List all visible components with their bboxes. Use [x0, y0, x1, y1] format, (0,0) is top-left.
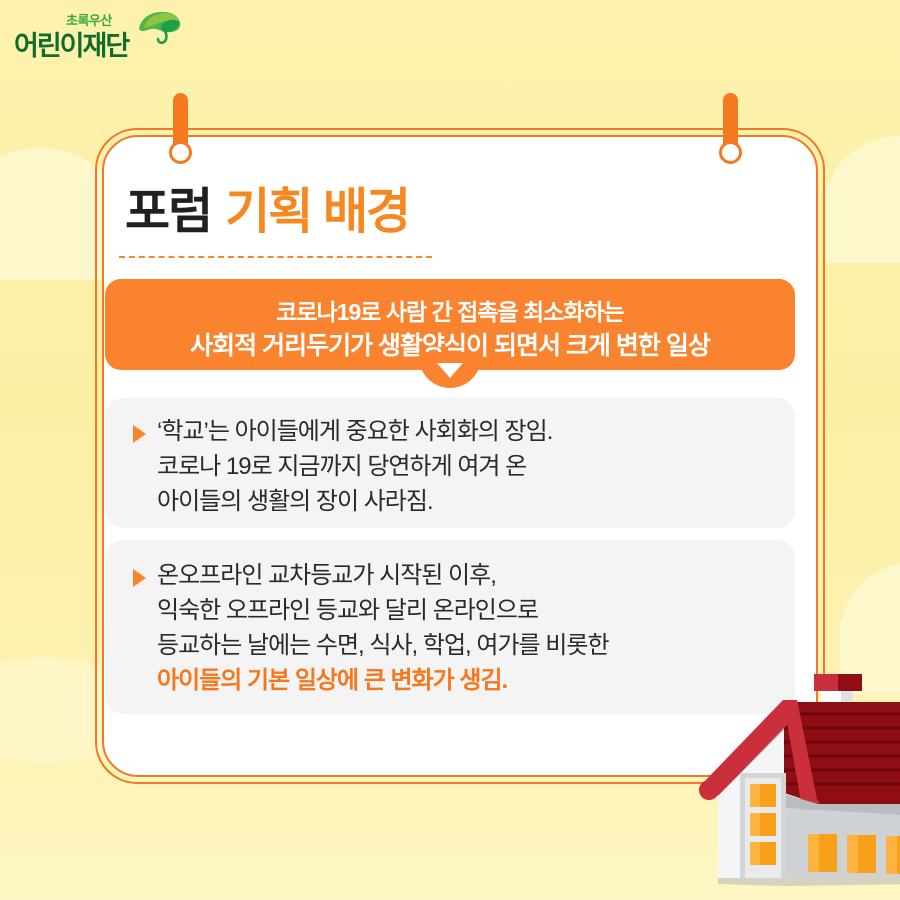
house-side-wall: [784, 808, 900, 878]
title-part-dark: 포럼: [125, 185, 211, 239]
house-side-window-1-hl: [808, 834, 819, 872]
hook-ring: [169, 141, 192, 164]
house-side-window-2-hl: [847, 835, 858, 873]
house-chimney-cap-shadow: [838, 674, 862, 691]
house-door-window-3-hl: [750, 842, 760, 865]
down-triangle-icon: [437, 363, 463, 378]
hook-ring: [719, 141, 742, 164]
summary-banner: 코로나19로 사람 간 접촉을 최소화하는 사회적 거리두기가 생활양식이 되면…: [105, 279, 795, 370]
house-illustration: [666, 656, 900, 900]
title-dashed-rule: [119, 256, 432, 258]
list-item: 온오프라인 교차등교가 시작된 이후,: [157, 558, 777, 593]
right-triangle-bullet-icon: [133, 425, 146, 443]
right-triangle-bullet-icon: [133, 569, 146, 587]
house-side-window-3-hl: [886, 836, 897, 874]
bullet-box-1: ‘학교’는 아이들에게 중요한 사회화의 장임. 코로나 19로 지금까지 당연…: [105, 398, 795, 528]
list-item: 코로나 19로 지금까지 당연하게 여겨 온: [157, 449, 777, 484]
house-roof-trim-cap-left: [699, 780, 719, 800]
green-umbrella-icon: [136, 11, 182, 45]
list-item: ‘학교’는 아이들에게 중요한 사회화의 장임.: [157, 414, 777, 449]
logo-title: 어린이재단: [14, 24, 128, 63]
banner-line-1: 코로나19로 사람 간 접촉을 최소화하는: [105, 293, 795, 327]
house-door-window-2-hl: [750, 813, 760, 836]
list-item: 아이들의 생활의 장이 사라짐.: [157, 484, 777, 519]
list-item: 익숙한 오프라인 등교와 달리 온라인으로: [157, 593, 777, 628]
page-title: 포럼기획 배경: [125, 188, 409, 237]
title-part-orange: 기획 배경: [225, 185, 409, 239]
organization-logo[interactable]: 초록우산 어린이재단: [14, 8, 174, 64]
bullet-box-1-lines: ‘학교’는 아이들에게 중요한 사회화의 장임. 코로나 19로 지금까지 당연…: [157, 414, 777, 519]
house-door-window-1-hl: [750, 784, 760, 807]
